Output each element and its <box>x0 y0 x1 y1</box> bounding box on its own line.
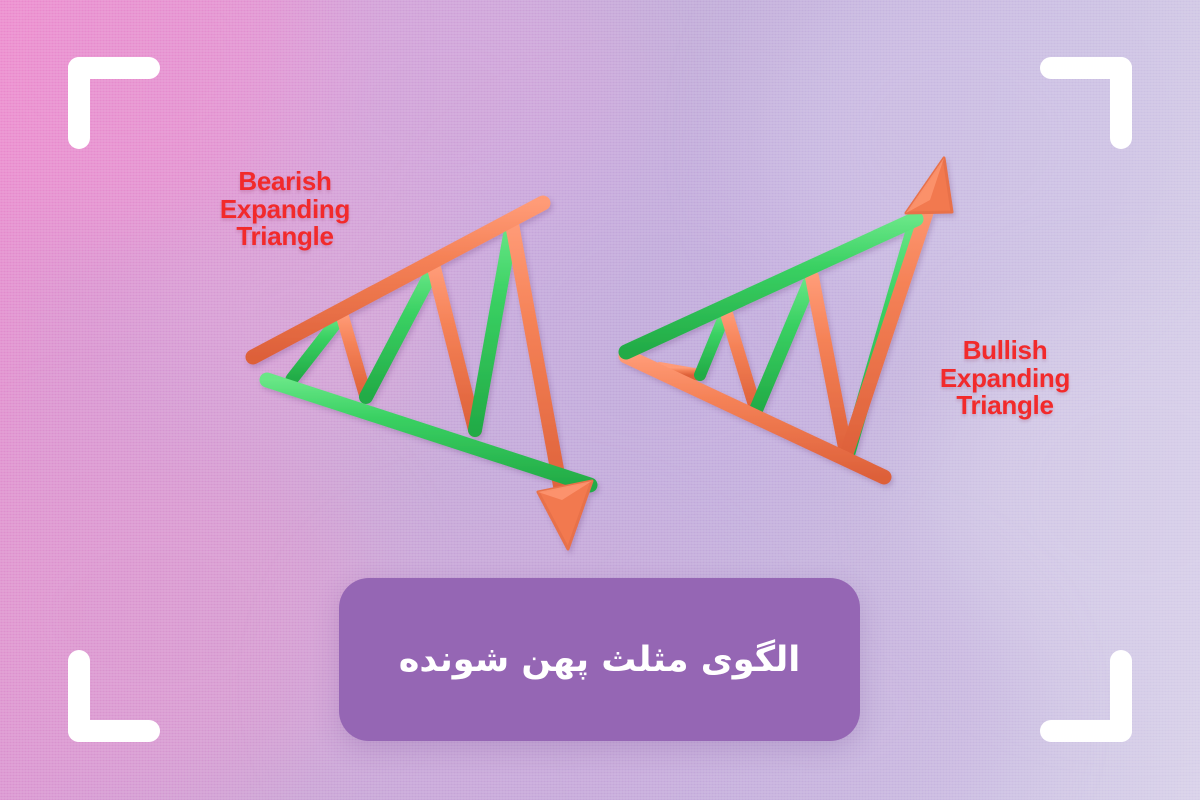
bearish-swing-down-2 <box>434 268 475 430</box>
bearish-chart-group <box>253 203 592 549</box>
caption-pill: الگوی مثلث پهن شونده <box>339 578 860 741</box>
bullish-label: Bullish Expanding Triangle <box>905 337 1105 420</box>
infographic-canvas: Bearish Expanding Triangle Bullish Expan… <box>0 0 1200 800</box>
bearish-swing-up-3 <box>475 224 512 430</box>
bullish-upper-trendline <box>626 219 916 352</box>
caption-text: الگوی مثلث پهن شونده <box>399 640 801 680</box>
bullish-swing-up-2 <box>756 277 812 410</box>
bullish-breakout-arrowhead-icon <box>906 158 952 213</box>
bearish-breakdown-arrowhead-icon <box>538 481 592 549</box>
bearish-swing-down-1 <box>342 315 366 397</box>
bullish-swing-down-3 <box>812 277 847 458</box>
bearish-label: Bearish Expanding Triangle <box>190 168 380 251</box>
bullish-swing-down-2 <box>726 312 756 410</box>
bullish-chart-group <box>626 158 952 477</box>
